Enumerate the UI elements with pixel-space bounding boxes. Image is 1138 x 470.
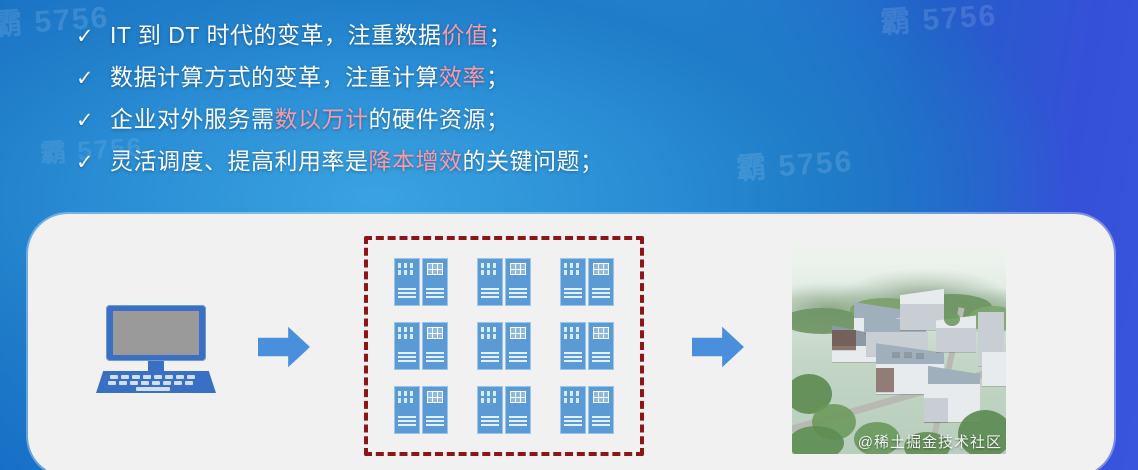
server-rack-pair xyxy=(477,258,531,306)
server-cabinet-right xyxy=(505,386,531,434)
cabinet-slots xyxy=(398,391,413,403)
list-item-highlight: 效率 xyxy=(439,64,486,90)
server-rack-pair xyxy=(394,258,448,306)
list-item-text: 灵活调度、提高利用率是降本增效的关键问题； xyxy=(110,142,604,176)
server-rack-pair xyxy=(477,322,531,370)
server-cabinet-left xyxy=(560,258,586,306)
cabinet-baselines xyxy=(481,352,499,364)
right-arrow-icon xyxy=(258,324,310,370)
server-cabinet-right xyxy=(588,322,614,370)
server-cabinet-right xyxy=(422,386,448,434)
cabinet-baselines xyxy=(592,288,610,300)
monitor-frame xyxy=(106,305,206,361)
server-cabinet-right xyxy=(422,322,448,370)
list-item-highlight: 降本增效 xyxy=(369,148,463,174)
check-icon: ✓ xyxy=(76,152,110,173)
server-cabinet-left xyxy=(560,322,586,370)
list-item-text-pre: IT 到 DT 时代的变革，注重数据 xyxy=(110,22,441,48)
list-item-highlight: 数以万计 xyxy=(275,106,369,132)
cabinet-slots xyxy=(564,327,579,339)
cabinet-grid-panel xyxy=(593,391,609,403)
cabinet-baselines xyxy=(564,352,582,364)
cabinet-grid-panel xyxy=(427,263,443,275)
cabinet-baselines xyxy=(398,352,416,364)
data-center-aerial-photo: @稀土掘金技术社区 xyxy=(792,246,1006,454)
server-rack-pair xyxy=(560,386,614,434)
cabinet-baselines xyxy=(564,288,582,300)
cabinet-slots xyxy=(481,263,496,275)
list-item-text-pre: 灵活调度、提高利用率是 xyxy=(110,148,369,174)
cabinet-baselines xyxy=(481,416,499,428)
list-item-text-pre: 数据计算方式的变革，注重计算 xyxy=(110,64,439,90)
cabinet-slots xyxy=(398,263,413,275)
server-cabinet-left xyxy=(477,386,503,434)
cabinet-grid-panel xyxy=(593,327,609,339)
list-item-text-post: ； xyxy=(486,64,510,90)
list-item: ✓ 企业对外服务需数以万计的硬件资源； xyxy=(76,100,1056,142)
cabinet-slots xyxy=(564,391,579,403)
server-cabinet-left xyxy=(394,386,420,434)
server-cabinet-left xyxy=(394,322,420,370)
cabinet-baselines xyxy=(509,352,527,364)
cabinet-grid-panel xyxy=(593,263,609,275)
cabinet-baselines xyxy=(398,416,416,428)
bullet-list: ✓ IT 到 DT 时代的变革，注重数据价值； ✓ 数据计算方式的变革，注重计算… xyxy=(76,16,1056,184)
server-rack-pair xyxy=(477,386,531,434)
server-cabinet-right xyxy=(422,258,448,306)
cabinet-baselines xyxy=(592,352,610,364)
server-rack-pair xyxy=(394,386,448,434)
check-icon: ✓ xyxy=(76,26,110,47)
list-item-text: 数据计算方式的变革，注重计算效率； xyxy=(110,58,510,92)
cabinet-grid-panel xyxy=(427,391,443,403)
computer-icon xyxy=(96,305,216,393)
monitor-stand xyxy=(148,361,164,371)
cabinet-baselines xyxy=(426,288,444,300)
cabinet-baselines xyxy=(426,416,444,428)
server-cabinet-right xyxy=(505,258,531,306)
cabinet-grid-panel xyxy=(427,327,443,339)
server-rack-cluster xyxy=(364,236,644,456)
photo-mist xyxy=(792,246,1006,298)
cabinet-baselines xyxy=(398,288,416,300)
server-cabinet-right xyxy=(588,386,614,434)
server-rack-pair xyxy=(560,322,614,370)
slide-background: 霸 5756 霸 5756 霸 5756 霸 5756 ✓ IT 到 DT 时代… xyxy=(0,0,1138,470)
cabinet-grid-panel xyxy=(510,391,526,403)
cabinet-baselines xyxy=(481,288,499,300)
cabinet-baselines xyxy=(509,416,527,428)
server-cabinet-left xyxy=(477,322,503,370)
cabinet-slots xyxy=(481,327,496,339)
list-item-highlight: 价值 xyxy=(441,22,488,48)
list-item-text-post: 的关键问题； xyxy=(463,148,604,174)
cabinet-slots xyxy=(564,263,579,275)
server-rack-pair xyxy=(394,322,448,370)
cabinet-slots xyxy=(481,391,496,403)
list-item-text: 企业对外服务需数以万计的硬件资源； xyxy=(110,100,510,134)
cabinet-baselines xyxy=(426,352,444,364)
cabinet-baselines xyxy=(592,416,610,428)
photo-watermark: @稀土掘金技术社区 xyxy=(858,431,1002,452)
server-cabinet-right xyxy=(505,322,531,370)
list-item-text: IT 到 DT 时代的变革，注重数据价值； xyxy=(110,16,512,50)
check-icon: ✓ xyxy=(76,68,110,89)
cabinet-baselines xyxy=(564,416,582,428)
list-item-text-pre: 企业对外服务需 xyxy=(110,106,275,132)
server-cabinet-left xyxy=(560,386,586,434)
monitor-screen xyxy=(113,311,199,355)
keyboard-icon xyxy=(96,371,216,393)
server-cabinet-right xyxy=(588,258,614,306)
list-item: ✓ IT 到 DT 时代的变革，注重数据价值； xyxy=(76,16,1056,58)
server-cabinet-left xyxy=(477,258,503,306)
right-arrow-icon xyxy=(692,324,744,370)
cabinet-grid-panel xyxy=(510,327,526,339)
list-item: ✓ 数据计算方式的变革，注重计算效率； xyxy=(76,58,1056,100)
server-rack-pair xyxy=(560,258,614,306)
list-item: ✓ 灵活调度、提高利用率是降本增效的关键问题； xyxy=(76,142,1056,184)
list-item-text-post: 的硬件资源； xyxy=(369,106,510,132)
cabinet-slots xyxy=(398,327,413,339)
cabinet-baselines xyxy=(509,288,527,300)
list-item-text-post: ； xyxy=(488,22,512,48)
server-cabinet-left xyxy=(394,258,420,306)
server-rack-grid xyxy=(368,240,640,452)
check-icon: ✓ xyxy=(76,110,110,131)
cabinet-grid-panel xyxy=(510,263,526,275)
